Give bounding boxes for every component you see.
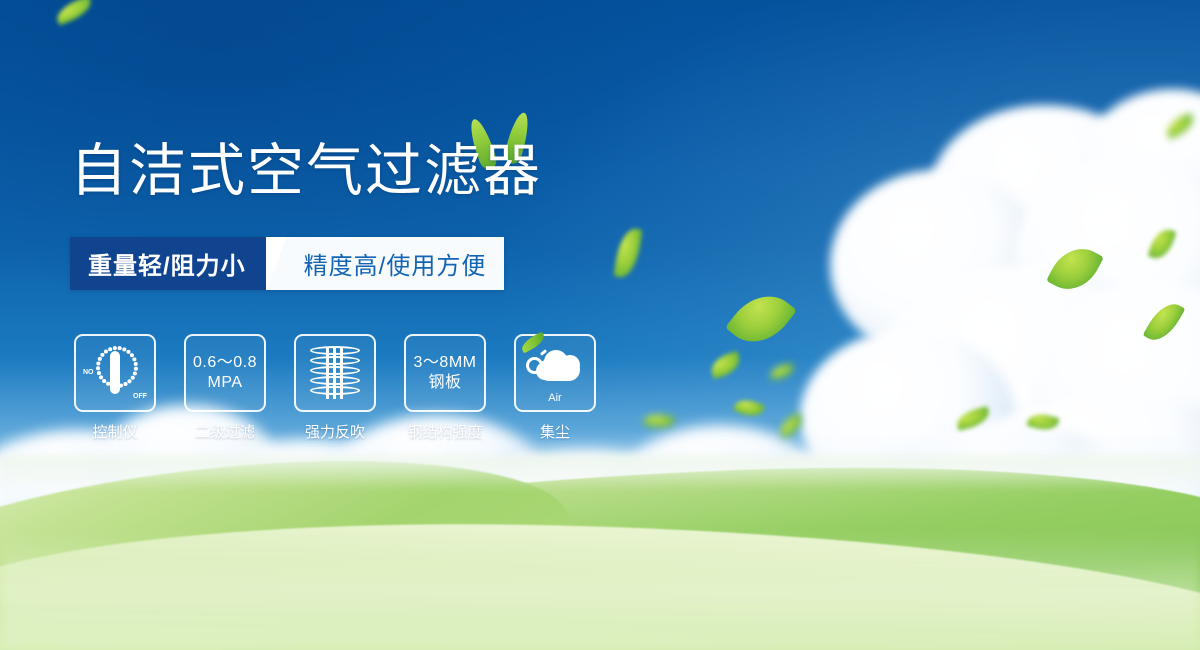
steel-plate-text-icon: 3～8MM 钢板: [414, 353, 477, 392]
feature-label: 控制仪: [92, 421, 137, 442]
subtitle-right-text: 精度高/使用方便: [292, 237, 505, 290]
subtitle-bar: 重量轻/阻力小 精度高/使用方便: [70, 237, 504, 290]
subtitle-left-text: 重量轻/阻力小: [70, 237, 266, 290]
feature-item-dust-collection[interactable]: Air 集尘: [510, 334, 600, 442]
feature-label: 强力反吹: [305, 421, 365, 442]
feature-item-two-stage-filter[interactable]: 0.6～0.8 MPA 二级过滤: [180, 334, 270, 442]
gauge-on-label: NO: [83, 369, 94, 376]
gauge-off-label: OFF: [133, 393, 147, 400]
feature-label: 集尘: [540, 421, 570, 442]
air-cloud-icon: Air: [524, 345, 586, 401]
feature-item-steel-strength[interactable]: 3～8MM 钢板 钢结构强度: [400, 334, 490, 442]
feature-tile: 0.6～0.8 MPA: [184, 334, 266, 412]
feature-label: 二级过滤: [195, 421, 255, 442]
feature-tile: NO OFF: [74, 334, 156, 412]
feature-tile: 3～8MM 钢板: [404, 334, 486, 412]
banner-title: 自洁式空气过滤器: [70, 142, 542, 202]
feature-tile: [294, 334, 376, 412]
pressure-text-icon: 0.6～0.8 MPA: [193, 353, 257, 392]
feature-item-controller[interactable]: NO OFF 控制仪: [70, 334, 160, 442]
grass-field: [0, 460, 1200, 650]
product-banner: 自洁式空气过滤器 重量轻/阻力小 精度高/使用方便 NO OFF 控制仪 0.6…: [0, 0, 1200, 650]
gauge-icon: NO OFF: [84, 344, 146, 402]
subtitle-diagonal-divider: [266, 237, 292, 290]
filter-stack-icon: [307, 344, 363, 402]
feature-list: NO OFF 控制仪 0.6～0.8 MPA 二级过滤: [70, 334, 600, 442]
feature-tile: Air: [514, 334, 596, 412]
air-caption: Air: [524, 392, 586, 404]
feature-item-backflush[interactable]: 强力反吹: [290, 334, 380, 442]
feature-label: 钢结构强度: [407, 421, 482, 442]
